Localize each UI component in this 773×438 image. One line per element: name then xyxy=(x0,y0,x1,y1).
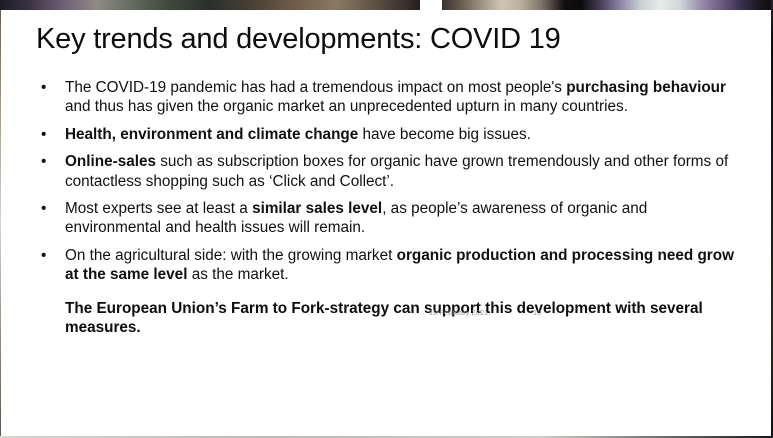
list-item-text: The COVID-19 pandemic has had a tremendo… xyxy=(65,79,726,115)
list-item-text: On the agricultural side: with the growi… xyxy=(65,247,734,283)
bullet-marker-icon: • xyxy=(41,125,46,144)
bullet-marker-icon: • xyxy=(41,152,46,171)
list-item-text: Most experts see at least a similar sale… xyxy=(65,200,647,236)
photo-band-segment-right xyxy=(442,0,773,10)
list-item: • Online-sales such as subscription boxe… xyxy=(34,152,734,191)
slide-border-left xyxy=(0,10,1,438)
bullet-marker-icon: • xyxy=(41,246,46,265)
slide-canvas: Key trends and developments: COVID 19 • … xyxy=(0,0,773,438)
list-item-text: Online-sales such as subscription boxes … xyxy=(65,153,728,189)
bullet-marker-icon: • xyxy=(41,199,46,218)
page-title: Key trends and developments: COVID 19 xyxy=(36,22,561,56)
list-item: • The COVID-19 pandemic has had a tremen… xyxy=(34,78,734,117)
decorative-photo-band xyxy=(0,0,773,10)
list-item-text: Health, environment and climate change h… xyxy=(65,126,531,143)
photo-band-segment-left xyxy=(0,0,420,10)
list-item: • Health, environment and climate change… xyxy=(34,125,734,144)
list-item: • On the agricultural side: with the gro… xyxy=(34,246,734,285)
closing-statement: The European Union’s Farm to Fork-strate… xyxy=(34,299,734,338)
slide-body: • The COVID-19 pandemic has had a tremen… xyxy=(34,78,734,337)
list-item: • Most experts see at least a similar sa… xyxy=(34,199,734,238)
photo-band-gap xyxy=(420,0,442,10)
bullet-marker-icon: • xyxy=(41,78,46,97)
